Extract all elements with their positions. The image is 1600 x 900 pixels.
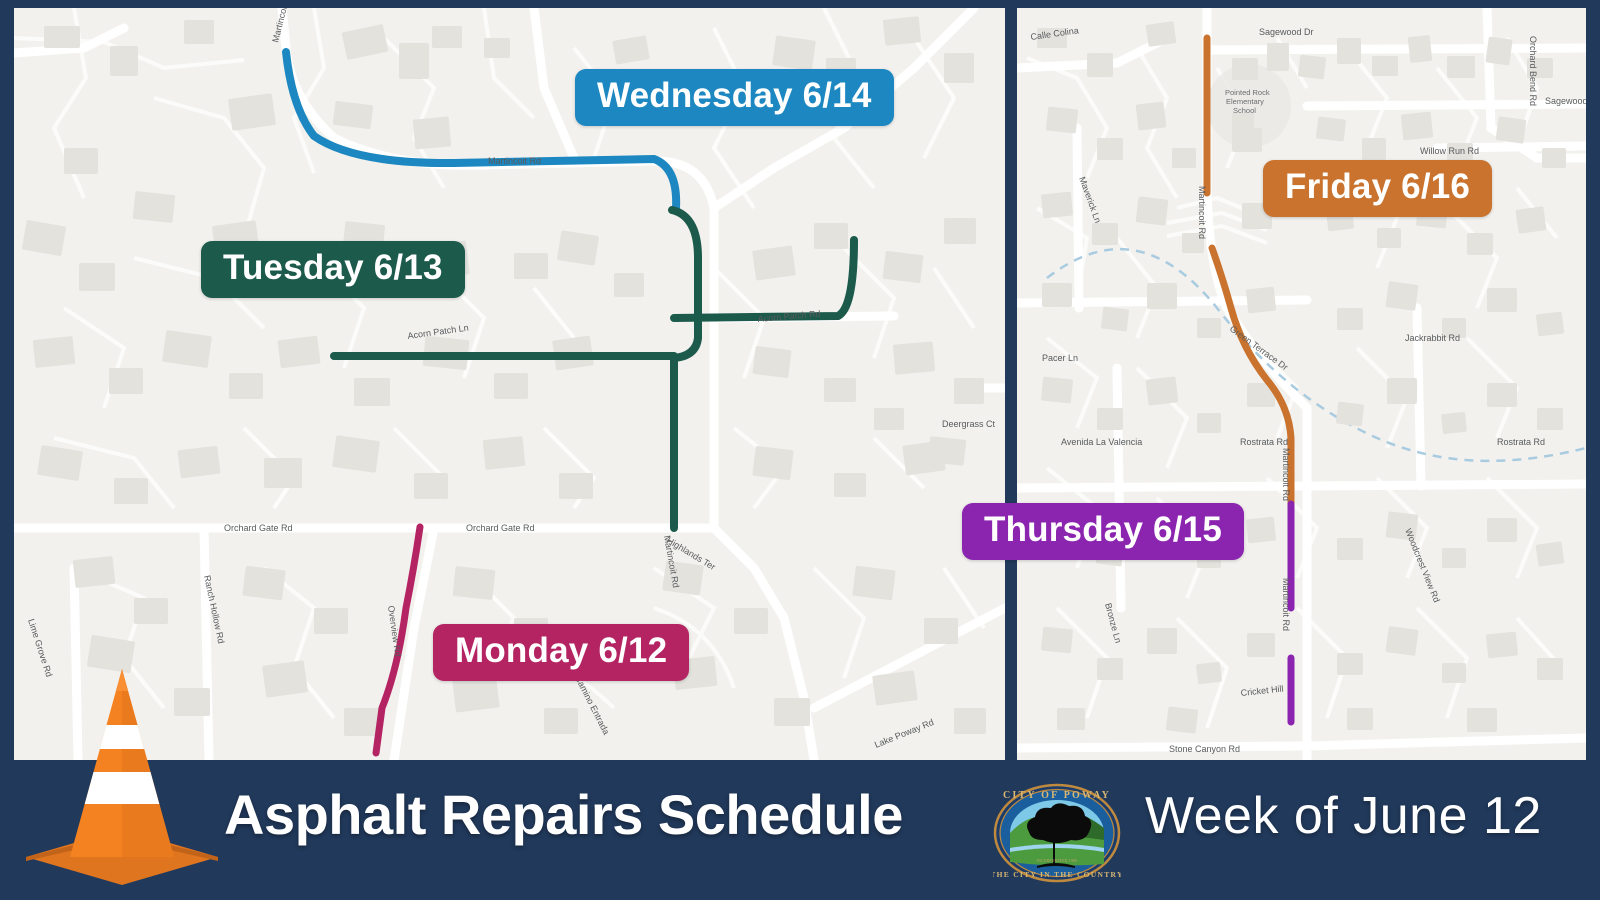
- school-label: School: [1233, 106, 1256, 115]
- seal-top-text: CITY OF POWAY: [1003, 790, 1111, 801]
- street-label: Rostrata Rd: [1497, 437, 1545, 447]
- map-panel-right[interactable]: Calle Colina Sagewood Dr Sagewood Dr Orc…: [1017, 8, 1586, 760]
- street-label: Orchard Gate Rd: [224, 523, 293, 533]
- poster-root: Martincoit Rd Martincoit Rd Acorn Patch …: [0, 0, 1600, 900]
- street-label: Deergrass Ct: [942, 419, 996, 429]
- street-label: Martincoit Rd: [1281, 448, 1291, 501]
- city-seal-logo: CITY OF POWAY THE CITY IN THE COUNTRY IN…: [993, 782, 1121, 884]
- street-label: Jackrabbit Rd: [1405, 333, 1460, 343]
- street-label: Martincoit Rd: [1281, 578, 1291, 631]
- badge-monday[interactable]: Monday 6/12: [433, 624, 689, 681]
- week-label: Week of June 12: [1145, 786, 1542, 846]
- street-label: Avenida La Valencia: [1061, 437, 1142, 447]
- street-label: Martincoit Rd: [488, 156, 541, 166]
- map-right-svg: Calle Colina Sagewood Dr Sagewood Dr Orc…: [1017, 8, 1586, 760]
- traffic-cone-icon: [22, 661, 222, 886]
- street-label: Orchard Bend Rd: [1528, 36, 1538, 106]
- school-label: Elementary: [1226, 97, 1264, 106]
- badge-thursday[interactable]: Thursday 6/15: [962, 503, 1244, 560]
- seal-founded-text: INCORPORATED 1980: [1037, 859, 1078, 863]
- badge-tuesday[interactable]: Tuesday 6/13: [201, 241, 465, 298]
- badge-wednesday[interactable]: Wednesday 6/14: [575, 69, 894, 126]
- map-panel-left[interactable]: Martincoit Rd Martincoit Rd Acorn Patch …: [14, 8, 1005, 760]
- street-label: Sagewood Dr: [1545, 96, 1586, 106]
- street-label: Sagewood Dr: [1259, 27, 1314, 37]
- seal-bottom-text: THE CITY IN THE COUNTRY: [993, 870, 1121, 879]
- badge-friday[interactable]: Friday 6/16: [1263, 160, 1492, 217]
- street-label: Willow Run Rd: [1420, 146, 1479, 156]
- page-title: Asphalt Repairs Schedule: [224, 782, 903, 847]
- school-label: Pointed Rock: [1225, 88, 1270, 97]
- street-label: Orchard Gate Rd: [466, 523, 535, 533]
- street-label: Stone Canyon Rd: [1169, 744, 1240, 754]
- street-label: Pacer Ln: [1042, 353, 1078, 363]
- street-label: Martincoit Rd: [1197, 186, 1207, 239]
- street-label: Rostrata Rd: [1240, 437, 1288, 447]
